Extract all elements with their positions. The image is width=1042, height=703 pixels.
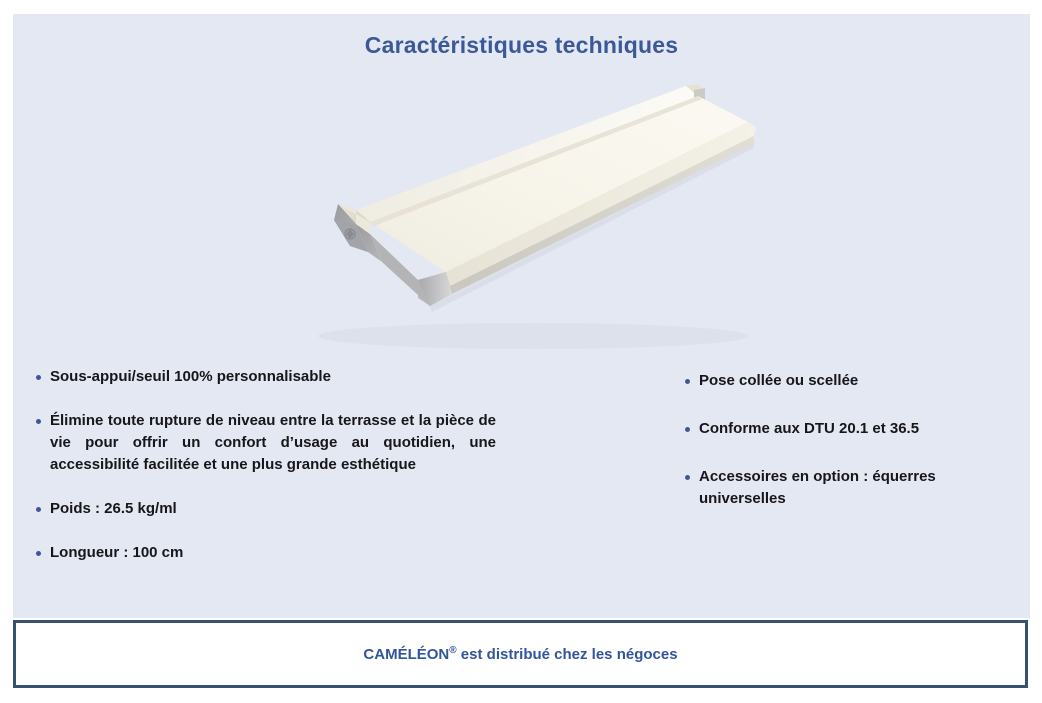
distribution-suffix: est distribué chez les négoces [457, 646, 678, 663]
feature-item: Longueur : 100 cm [36, 542, 496, 564]
product-stamp-icon [345, 229, 355, 239]
product-image [278, 74, 798, 364]
feature-item: Poids : 26.5 kg/ml [36, 498, 496, 520]
feature-text: Longueur : 100 cm [50, 542, 496, 564]
feature-item: Pose collée ou scellée [685, 370, 1015, 392]
bullet-dot-icon [685, 379, 690, 384]
feature-text: Conforme aux DTU 20.1 et 36.5 [699, 418, 1015, 440]
brand-name: CAMÉLÉON [363, 646, 449, 663]
distribution-text: CAMÉLÉON® est distribué chez les négoces [363, 645, 677, 663]
bullet-dot-icon [36, 419, 41, 424]
content-panel: Caractéristiques techniques [13, 14, 1030, 618]
feature-text: Pose collée ou scellée [699, 370, 1015, 392]
feature-item: Conforme aux DTU 20.1 et 36.5 [685, 418, 1015, 440]
feature-item: Élimine toute rupture de niveau entre la… [36, 410, 496, 476]
distribution-banner: CAMÉLÉON® est distribué chez les négoces [13, 620, 1028, 688]
feature-text: Accessoires en option : équerres univers… [699, 466, 1015, 510]
product-illustration [278, 74, 798, 364]
feature-item: Accessoires en option : équerres univers… [685, 466, 1015, 510]
page-title: Caractéristiques techniques [13, 32, 1030, 59]
features-right-column: Pose collée ou scellée Conforme aux DTU … [685, 370, 1015, 536]
bullet-dot-icon [36, 375, 41, 380]
bullet-dot-icon [685, 475, 690, 480]
feature-item: Sous-appui/seuil 100% personnalisable [36, 366, 496, 388]
feature-text: Élimine toute rupture de niveau entre la… [50, 410, 496, 476]
bullet-dot-icon [36, 551, 41, 556]
feature-text: Sous-appui/seuil 100% personnalisable [50, 366, 496, 388]
feature-text: Poids : 26.5 kg/ml [50, 498, 496, 520]
features-left-column: Sous-appui/seuil 100% personnalisable Él… [36, 366, 496, 586]
bullet-dot-icon [36, 507, 41, 512]
registered-trademark-icon: ® [449, 645, 456, 656]
bullet-dot-icon [685, 427, 690, 432]
